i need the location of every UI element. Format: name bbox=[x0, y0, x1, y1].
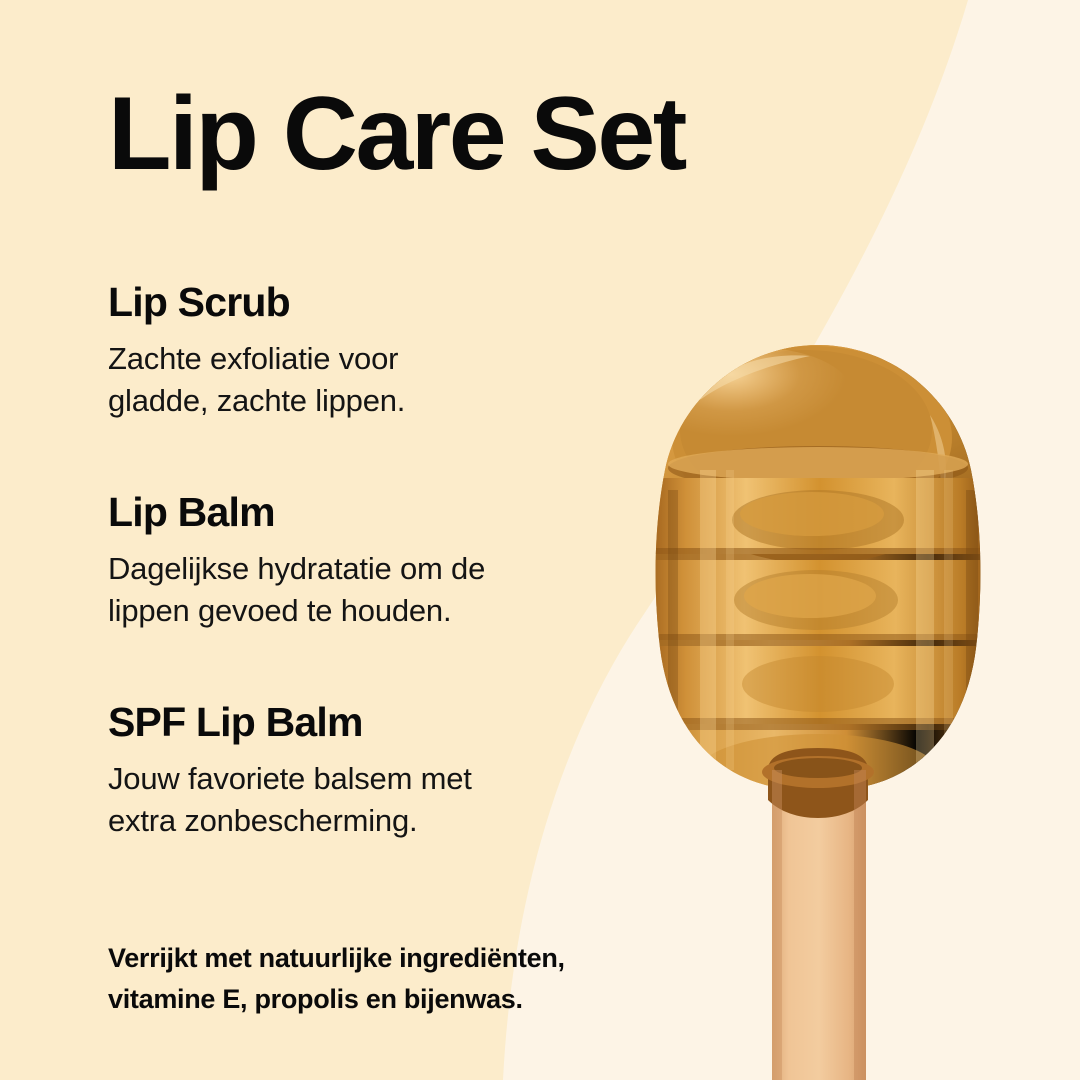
section-heading: SPF Lip Balm bbox=[108, 700, 628, 744]
section-heading: Lip Scrub bbox=[108, 280, 628, 324]
section-body: Zachte exfoliatie voor gladde, zachte li… bbox=[108, 338, 628, 422]
body-line: lippen gevoed te houden. bbox=[108, 590, 628, 632]
text-column: Lip Care Set Lip Scrub Zachte exfoliatie… bbox=[108, 0, 668, 1080]
section-lip-scrub: Lip Scrub Zachte exfoliatie voor gladde,… bbox=[108, 280, 628, 422]
footnote-line: Verrijkt met natuurlijke ingrediënten, bbox=[108, 938, 648, 979]
body-line: Jouw favoriete balsem met bbox=[108, 758, 628, 800]
body-line: Zachte exfoliatie voor bbox=[108, 338, 628, 380]
section-body: Dagelijkse hydratatie om de lippen gevoe… bbox=[108, 548, 628, 632]
page-title: Lip Care Set bbox=[108, 82, 685, 186]
poster-canvas: Lip Care Set Lip Scrub Zachte exfoliatie… bbox=[0, 0, 1080, 1080]
ingredients-footnote: Verrijkt met natuurlijke ingrediënten, v… bbox=[108, 938, 648, 1020]
section-lip-balm: Lip Balm Dagelijkse hydratatie om de lip… bbox=[108, 490, 628, 632]
section-heading: Lip Balm bbox=[108, 490, 628, 534]
body-line: extra zonbescherming. bbox=[108, 800, 628, 842]
body-line: Dagelijkse hydratatie om de bbox=[108, 548, 628, 590]
body-line: gladde, zachte lippen. bbox=[108, 380, 628, 422]
section-body: Jouw favoriete balsem met extra zonbesch… bbox=[108, 758, 628, 842]
section-spf-lip-balm: SPF Lip Balm Jouw favoriete balsem met e… bbox=[108, 700, 628, 842]
footnote-line: vitamine E, propolis en bijenwas. bbox=[108, 979, 648, 1020]
